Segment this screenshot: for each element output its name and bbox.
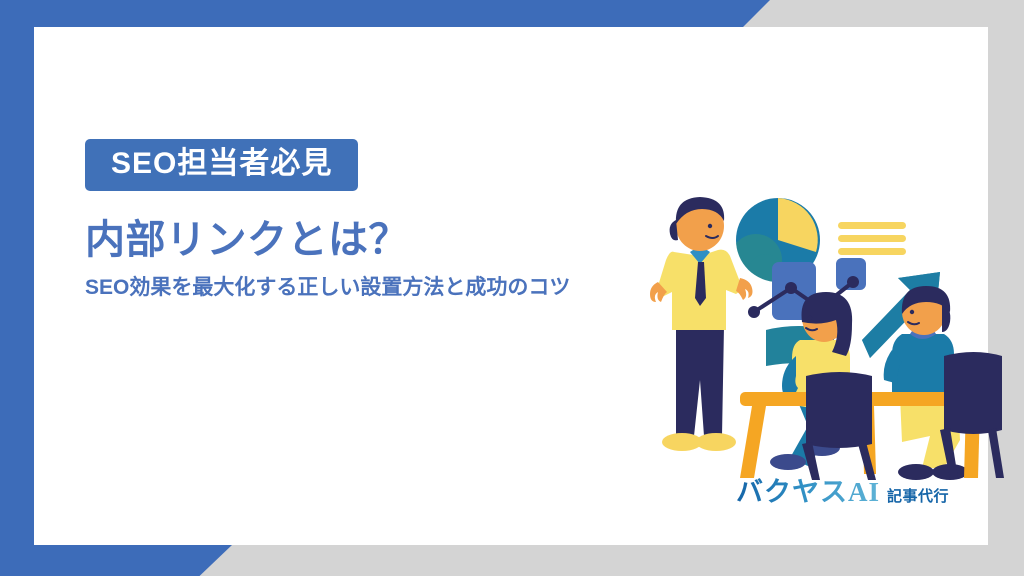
brand-logo-name: バクヤスAI	[736, 470, 880, 509]
brand-logo-tagline: 記事代行	[887, 485, 949, 506]
brand-logo: バクヤスAI 記事代行	[736, 470, 949, 509]
text-block: SEO担当者必見 内部リンクとは？ SEO効果を最大化する正しい設置方法と成功の…	[85, 139, 685, 302]
text-lines	[838, 222, 906, 255]
content-card: SEO担当者必見 内部リンクとは？ SEO効果を最大化する正しい設置方法と成功の…	[34, 27, 988, 545]
decorative-left-bar	[0, 0, 34, 576]
business-meeting-analytics-illustration	[648, 190, 1008, 490]
page-title: 内部リンクとは？	[85, 217, 685, 263]
decorative-top-bar	[0, 0, 770, 27]
decorative-bottom-bar	[0, 545, 232, 576]
thumbnail-canvas: SEO担当者必見 内部リンクとは？ SEO効果を最大化する正しい設置方法と成功の…	[0, 0, 1024, 576]
eyebrow-badge: SEO担当者必見	[85, 139, 358, 191]
chair-left	[802, 372, 876, 480]
page-subtitle: SEO効果を最大化する正しい設置方法と成功のコツ	[85, 273, 645, 303]
